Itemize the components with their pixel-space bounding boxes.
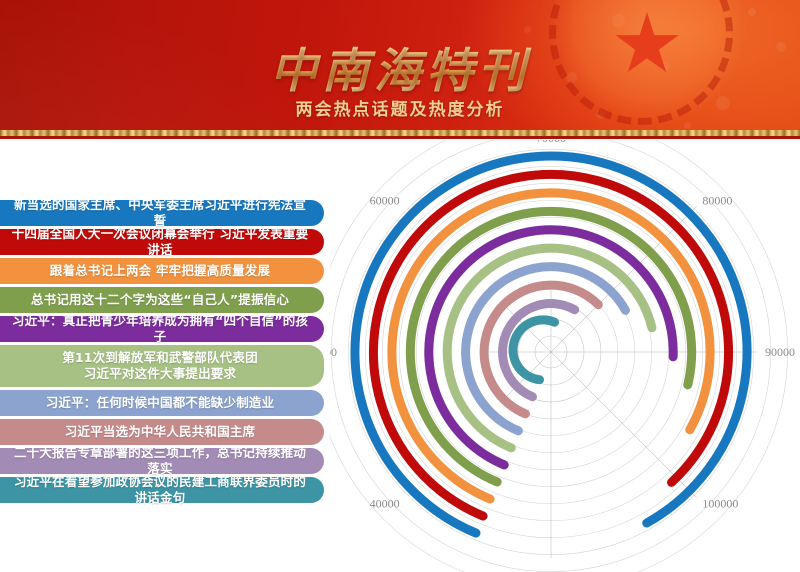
topic-legend-item[interactable]: 二十大报告专章部署的这三项工作，总书记持续推动落实 <box>0 448 324 474</box>
spiral-radial-bar-chart: 新当选的国家主席、中央军委主席习近平进行宪法宣誓 — 103500十四届全国人大… <box>330 140 800 572</box>
spiral-bar[interactable]: 习近平在看望参加政协会议的民建工商联界委员时的讲话金句 — 71500 <box>513 320 554 380</box>
topic-legend-label: 二十大报告专章部署的这三项工作，总书记持续推动落实 <box>8 445 312 476</box>
gold-divider-shadow <box>0 136 800 139</box>
topic-legend-label: 第11次到解放军和武警部队代表团 习近平对这件大事提出要求 <box>8 350 312 381</box>
topic-legend-item[interactable]: 习近平当选为中华人民共和国主席 <box>0 419 324 445</box>
axis-tick-label: 70000 <box>536 140 566 145</box>
topic-legend-item[interactable]: 习近平在看望参加政协会议的民建工商联界委员时的讲话金句 <box>0 477 324 503</box>
topic-legend-label: 习近平：任何时候中国都不能缺少制造业 <box>8 395 312 411</box>
page-title: 中南海特刊 <box>0 32 800 101</box>
topic-legend-label: 跟着总书记上两会 牢牢把握高质量发展 <box>8 263 312 279</box>
axis-tick-label: 90000 <box>765 345 795 359</box>
topic-legend-item[interactable]: 习近平：真正把青少年培养成为拥有“四个自信”的孩子 <box>0 316 324 342</box>
topic-legend-label: 总书记用这十二个字为这些“自己人”提振信心 <box>8 292 312 308</box>
axis-tick-label: 100000 <box>702 496 738 510</box>
topic-legend-item[interactable]: 第11次到解放军和武警部队代表团 习近平对这件大事提出要求 <box>0 345 324 387</box>
topic-legend-label: 十四届全国人大一次会议闭幕会举行 习近平发表重要讲话 <box>8 226 312 257</box>
topic-legend-label: 新当选的国家主席、中央军委主席习近平进行宪法宣誓 <box>8 197 312 228</box>
infographic-page: 中南海特刊 两会热点话题及热度分析 新当选的国家主席、中央军委主席习近平进行宪法… <box>0 0 800 572</box>
chart-canvas: 新当选的国家主席、中央军委主席习近平进行宪法宣誓 — 103500十四届全国人大… <box>330 140 800 572</box>
page-header: 中南海特刊 两会热点话题及热度分析 <box>0 0 800 139</box>
spiral-bar[interactable]: 第11次到解放军和武警部队代表团 习近平对这件大事提出要求 — 87000 <box>447 248 652 448</box>
topic-legend-list: 新当选的国家主席、中央军委主席习近平进行宪法宣誓十四届全国人大一次会议闭幕会举行… <box>0 200 326 506</box>
topic-legend-item[interactable]: 新当选的国家主席、中央军委主席习近平进行宪法宣誓 <box>0 200 324 226</box>
page-subtitle: 两会热点话题及热度分析 <box>0 95 800 120</box>
spiral-bar[interactable]: 习近平：任何时候中国都不能缺少制造业 — 83500 <box>466 267 626 431</box>
topic-legend-label: 习近平当选为中华人民共和国主席 <box>8 424 312 440</box>
axis-tick-label: 80000 <box>702 194 732 208</box>
topic-legend-item[interactable]: 跟着总书记上两会 牢牢把握高质量发展 <box>0 258 324 284</box>
topic-legend-label: 习近平：真正把青少年培养成为拥有“四个自信”的孩子 <box>8 313 312 344</box>
topic-legend-item[interactable]: 习近平：任何时候中国都不能缺少制造业 <box>0 390 324 416</box>
axis-tick-label: 50000 <box>330 345 337 359</box>
axis-tick-label: 60000 <box>370 194 400 208</box>
topic-legend-item[interactable]: 十四届全国人大一次会议闭幕会举行 习近平发表重要讲话 <box>0 229 324 255</box>
axis-tick-label: 40000 <box>370 496 400 510</box>
topic-legend-label: 习近平在看望参加政协会议的民建工商联界委员时的讲话金句 <box>8 474 312 505</box>
topic-legend-item[interactable]: 总书记用这十二个字为这些“自己人”提振信心 <box>0 287 324 313</box>
